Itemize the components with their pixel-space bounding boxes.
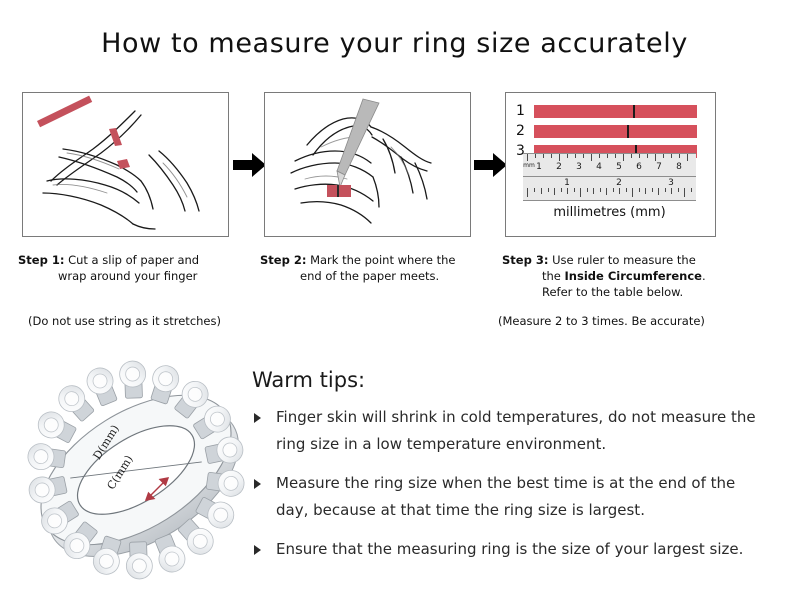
measured-strip-row: 1 [516, 105, 706, 121]
ring-size-guide-page: How to measure your ring size accurately [0, 0, 789, 606]
step-3-illustration-panel: 1 2 3 [505, 92, 716, 237]
step-1-label: Step 1: [18, 253, 64, 267]
warm-tips-list: Finger skin will shrink in cold temperat… [252, 404, 772, 575]
measured-strip-row: 2 [516, 125, 706, 141]
arrow-right-icon [233, 152, 267, 178]
step-2-line1: Mark the point where the [310, 253, 455, 267]
step-3-label: Step 3: [502, 253, 548, 267]
strip-tick-mark [627, 125, 629, 138]
hand-with-paper-strip-sketch [23, 93, 228, 236]
ruler-imperial-ticks [523, 188, 696, 197]
step-1-line2: wrap around your finger [18, 268, 248, 284]
triangle-bullet-icon [254, 413, 261, 423]
tip-text: Ensure that the measuring ring is the si… [276, 540, 743, 558]
step-1-illustration-panel [22, 92, 229, 237]
warm-tips-heading: Warm tips: [252, 368, 365, 392]
step-2-caption: Step 2: Mark the point where the end of … [260, 252, 490, 284]
tip-item: Ensure that the measuring ring is the si… [252, 536, 772, 563]
step-3-line3: Refer to the table below. [502, 284, 772, 300]
strip-number: 2 [516, 123, 530, 139]
paper-strip-bar [534, 125, 697, 138]
tip-item: Measure the ring size when the best time… [252, 470, 772, 524]
tip-text: Finger skin will shrink in cold temperat… [276, 408, 756, 453]
step-2-line2: end of the paper meets. [260, 268, 490, 284]
strip-tick-mark [633, 105, 635, 118]
tip-item: Finger skin will shrink in cold temperat… [252, 404, 772, 458]
step-1-line1: Cut a slip of paper and [68, 253, 199, 267]
ruler-metric-ticks [523, 154, 696, 161]
triangle-bullet-icon [254, 545, 261, 555]
step-1-note: (Do not use string as it stretches) [28, 314, 221, 328]
step-3-line1: Use ruler to measure the [552, 253, 696, 267]
tip-text: Measure the ring size when the best time… [276, 474, 735, 519]
step-1-caption: Step 1: Cut a slip of paper and wrap aro… [18, 252, 248, 284]
hand-marking-paper-sketch [265, 93, 470, 236]
triangle-bullet-icon [254, 479, 261, 489]
step-3-note: (Measure 2 to 3 times. Be accurate) [498, 314, 705, 328]
ring-diagram [18, 352, 254, 592]
step-3-line2: the Inside Circumference. [502, 268, 772, 284]
strip-number: 1 [516, 103, 530, 119]
ruler-caption: millimetres (mm) [506, 205, 713, 220]
step-2-illustration-panel [264, 92, 471, 237]
ruler-mm-abbrev: mm [523, 162, 535, 169]
ruler: 1 2 3 4 5 6 7 8 mm 1 2 3 [523, 153, 696, 199]
paper-strip-bar [534, 105, 697, 118]
inside-circumference-emphasis: Inside Circumference [565, 269, 702, 283]
step-2-label: Step 2: [260, 253, 306, 267]
arrow-right-icon [474, 152, 508, 178]
step-3-caption: Step 3: Use ruler to measure the the Ins… [502, 252, 772, 300]
page-title: How to measure your ring size accurately [0, 28, 789, 59]
